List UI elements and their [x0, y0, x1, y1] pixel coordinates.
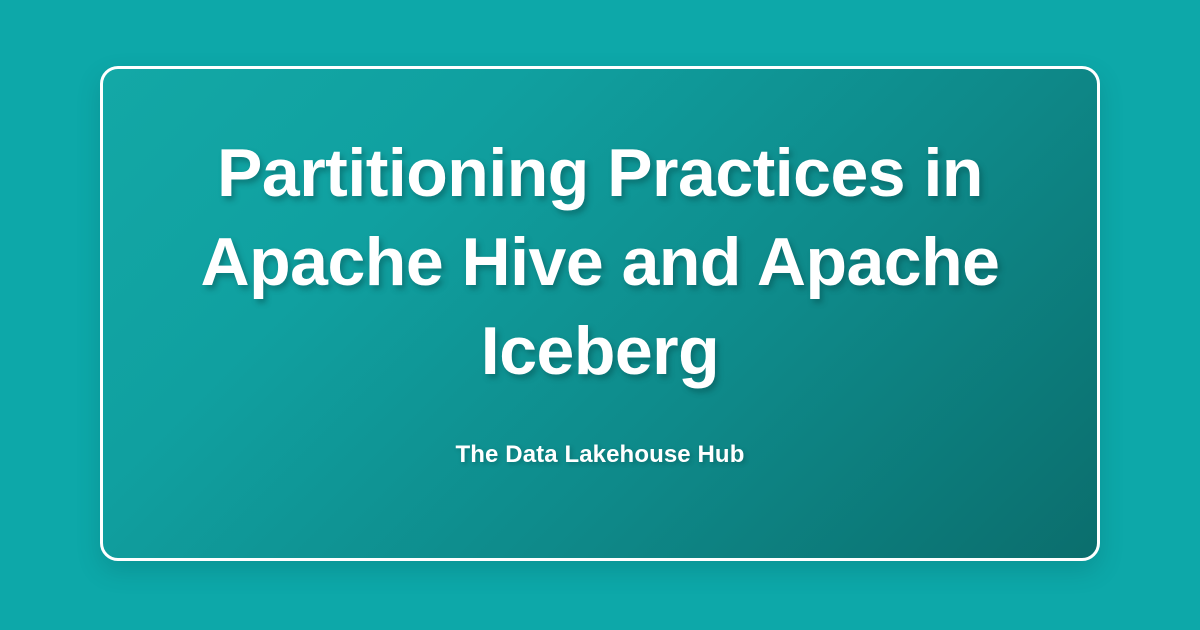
page-title: Partitioning Practices in Apache Hive an… [163, 129, 1037, 396]
hero-content: Partitioning Practices in Apache Hive an… [103, 129, 1097, 470]
site-name-subtitle: The Data Lakehouse Hub [163, 440, 1037, 470]
og-image-canvas: Partitioning Practices in Apache Hive an… [0, 0, 1200, 630]
hero-card: Partitioning Practices in Apache Hive an… [100, 66, 1100, 561]
